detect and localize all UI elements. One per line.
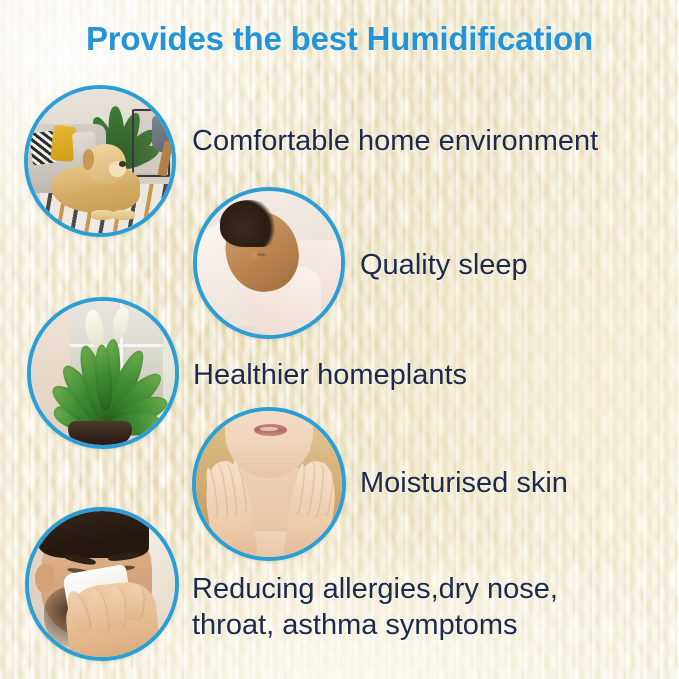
dog-paw [112,210,135,220]
sleeping-baby-photo [193,187,345,339]
finger [108,586,128,629]
skin-closeup-scene [196,411,342,557]
benefit-label-healthier-homeplants: Healthier homeplants [193,357,467,393]
benefit-label-quality-sleep: Quality sleep [360,247,528,283]
dog-nose [119,161,126,167]
baby-hair [220,200,278,248]
man-hair [38,507,149,558]
humidifier-benefits-poster: Provides the best Humidification Comfort… [0,0,679,679]
sneezing-man-scene [29,511,175,657]
man-sneezing-photo [25,507,179,661]
living-room-scene [28,89,172,233]
benefit-label-comfortable-home-environment: Comfortable home environment [192,123,598,159]
benefit-label-line-1: Reducing allergies,dry nose, [192,571,558,607]
woman-face-skin-photo [192,407,346,561]
page-title: Provides the best Humidification [0,20,679,58]
benefit-label-moisturised-skin: Moisturised skin [360,465,568,501]
houseplant-photo [27,297,179,449]
living-room-dog-photo [24,85,176,237]
benefit-label-line-2: throat, asthma symptoms [192,607,558,643]
sleeping-baby-scene [197,191,341,335]
benefit-label-reducing-allergies: Reducing allergies,dry nose, throat, ast… [192,571,558,644]
finger [124,584,146,621]
houseplant-scene [31,301,175,445]
dog-paw [91,210,114,220]
plant-pot [68,421,131,445]
man-ear [35,564,54,593]
lip-highlight [260,427,278,431]
